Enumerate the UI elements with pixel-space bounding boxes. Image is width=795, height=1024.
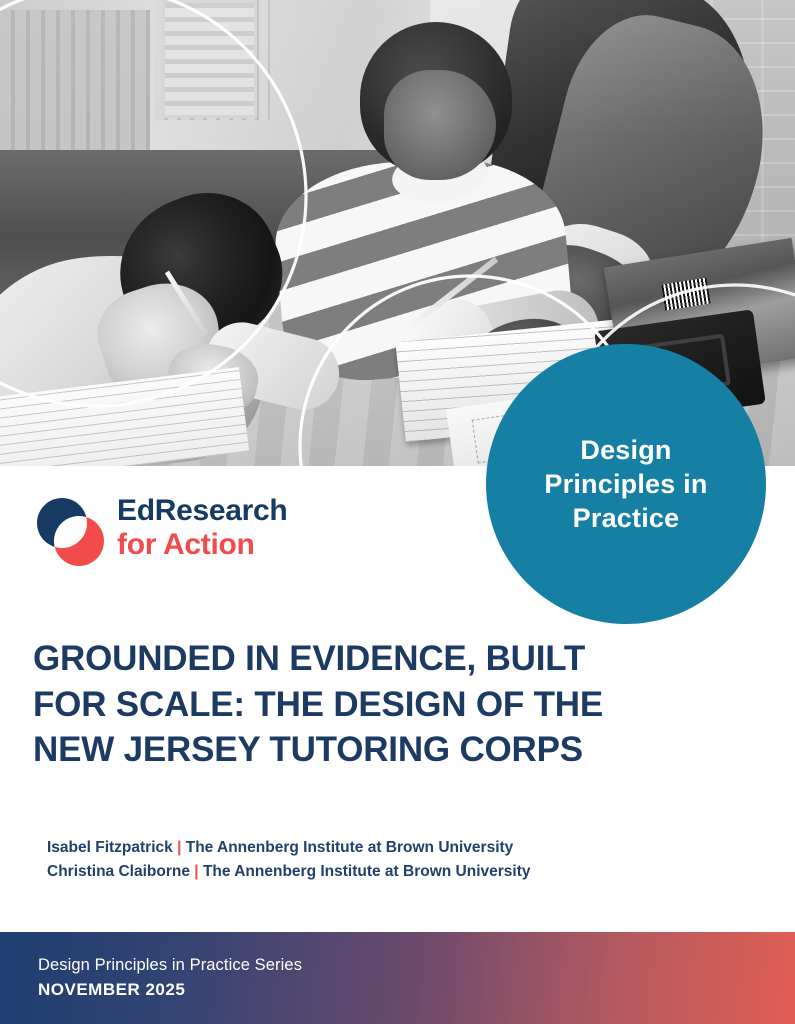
footer-series-block: Design Principles in Practice Series NOV… — [38, 954, 302, 1002]
footer-series-label: Design Principles in Practice Series — [38, 954, 302, 978]
author-affiliation: The Annenberg Institute at Brown Univers… — [186, 839, 514, 856]
author-separator: | — [177, 839, 181, 856]
title-line-2: FOR SCALE: THE DESIGN OF THE — [33, 685, 603, 724]
title-line-1: GROUNDED IN EVIDENCE, BUILT — [33, 639, 585, 678]
badge-label: Design Principles in Practice — [518, 433, 733, 536]
edresearch-logo[interactable]: EdResearch for Action — [33, 494, 293, 572]
logo-line-1: EdResearch — [117, 494, 287, 528]
author-list: Isabel Fitzpatrick | The Annenberg Insti… — [47, 836, 747, 884]
author-row: Isabel Fitzpatrick | The Annenberg Insti… — [47, 836, 747, 860]
edresearch-logo-text: EdResearch for Action — [117, 494, 287, 561]
author-row: Christina Claiborne | The Annenberg Inst… — [47, 860, 747, 884]
report-cover-page: Design Principles in Practice EdResearch… — [0, 0, 795, 1024]
design-principles-badge: Design Principles in Practice — [486, 344, 766, 624]
author-name: Christina Claiborne — [47, 863, 190, 880]
author-name: Isabel Fitzpatrick — [47, 839, 173, 856]
logo-line-2: for Action — [117, 528, 287, 562]
title-line-3: NEW JERSEY TUTORING CORPS — [33, 730, 583, 769]
footer-date-label: NOVEMBER 2025 — [38, 978, 302, 1002]
author-affiliation: The Annenberg Institute at Brown Univers… — [203, 863, 531, 880]
edresearch-logo-mark — [33, 496, 109, 568]
footer-bar: Design Principles in Practice Series NOV… — [0, 932, 795, 1024]
author-separator: | — [194, 863, 198, 880]
page-title: GROUNDED IN EVIDENCE, BUILT FOR SCALE: T… — [33, 636, 745, 773]
